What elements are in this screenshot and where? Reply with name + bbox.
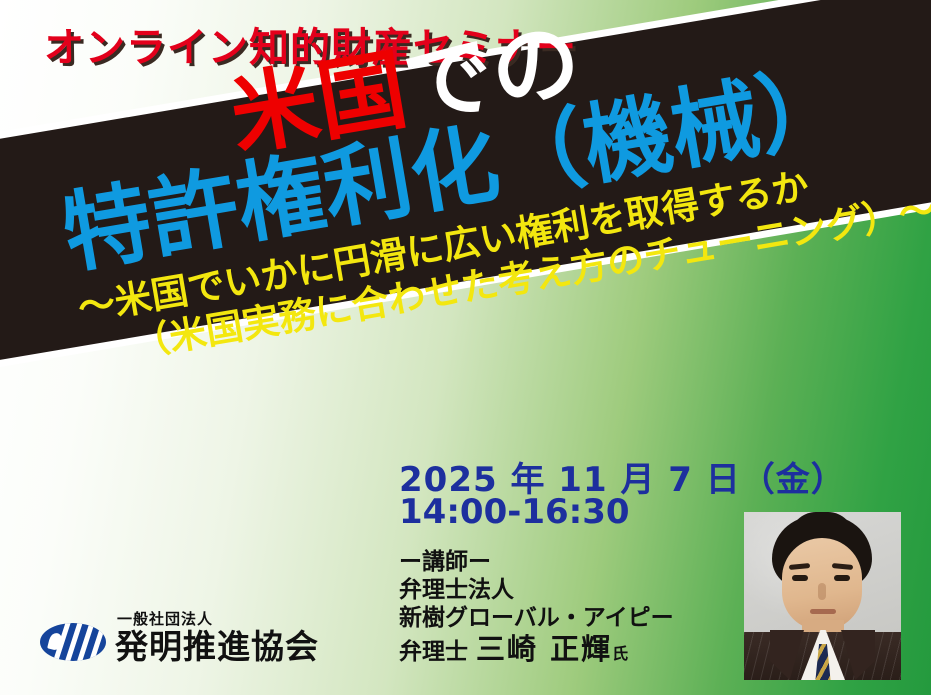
portrait-eye-left [792, 575, 808, 581]
seminar-poster: オンライン知的財産セミナー 米国での 特許権利化（機械） 〜米国でいかに円滑に広… [0, 0, 931, 695]
speaker-block: ー講師ー 弁理士法人 新樹グローバル・アイピー 弁理士 三崎 正輝氏 [399, 548, 674, 668]
organizer-text: 一般社団法人 発明推進協会 [115, 612, 319, 663]
speaker-name-row: 弁理士 三崎 正輝氏 [399, 632, 674, 667]
speaker-firm-type: 弁理士法人 [399, 576, 674, 604]
organizer-name: 発明推進協会 [115, 630, 319, 663]
organizer-prefix: 一般社団法人 [117, 612, 319, 627]
speaker-portrait-photo [744, 512, 901, 680]
portrait-eye-right [834, 575, 850, 581]
speaker-person-name: 三崎 正輝 [476, 632, 612, 666]
speaker-label: ー講師ー [399, 548, 674, 576]
portrait-nose [818, 583, 826, 600]
portrait-mouth [810, 609, 836, 614]
speaker-title: 弁理士 [399, 639, 468, 665]
organizer-logo: 一般社団法人 発明推進協会 [40, 612, 319, 663]
speaker-firm-name: 新樹グローバル・アイピー [399, 604, 674, 632]
event-time: 14:00-16:30 [399, 492, 630, 532]
jiii-logo-icon [40, 623, 106, 661]
speaker-honorific: 氏 [612, 644, 628, 663]
